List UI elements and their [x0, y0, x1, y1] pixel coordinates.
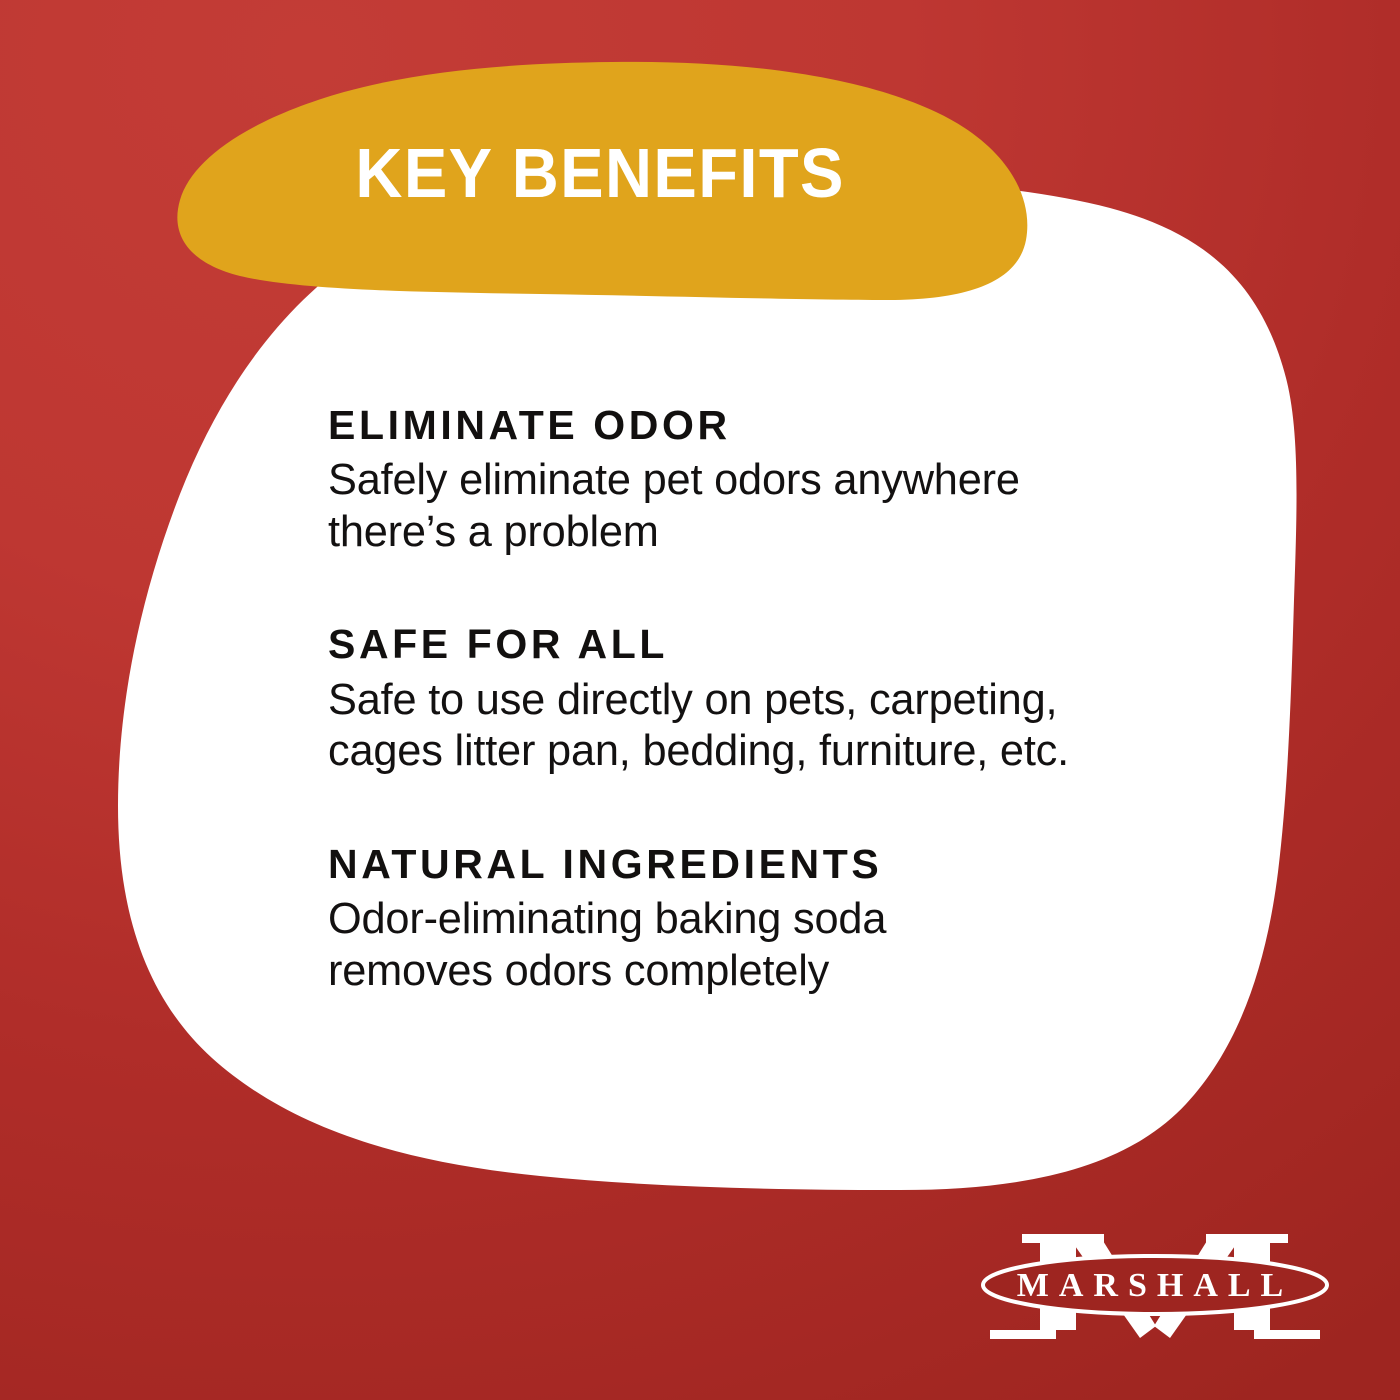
- banner-title: KEY BENEFITS: [355, 138, 844, 208]
- benefits-list: ELIMINATE ODOR Safely eliminate pet odor…: [328, 404, 1288, 996]
- benefit-body: Safely eliminate pet odors anywhere ther…: [328, 454, 1274, 557]
- benefit-body: Safe to use directly on pets, carpeting,…: [328, 674, 1274, 777]
- benefit-item-natural-ingredients: NATURAL INGREDIENTS Odor-eliminating bak…: [328, 843, 1288, 996]
- benefit-item-eliminate-odor: ELIMINATE ODOR Safely eliminate pet odor…: [328, 404, 1288, 557]
- benefit-body-line: there’s a problem: [328, 506, 1274, 557]
- benefit-body-line: Safe to use directly on pets, carpeting,: [328, 674, 1274, 725]
- benefit-body-line: cages litter pan, bedding, furniture, et…: [328, 725, 1274, 776]
- benefit-item-safe-for-all: SAFE FOR ALL Safe to use directly on pet…: [328, 623, 1288, 776]
- marshall-logo: MARSHALL: [980, 1218, 1330, 1358]
- benefit-heading: ELIMINATE ODOR: [328, 404, 1288, 447]
- benefit-body-line: Safely eliminate pet odors anywhere: [328, 454, 1274, 505]
- logo-wordmark: MARSHALL: [1017, 1267, 1293, 1304]
- benefit-body-line: removes odors completely: [328, 945, 1274, 996]
- benefit-heading: NATURAL INGREDIENTS: [328, 843, 1288, 886]
- benefit-body: Odor-eliminating baking soda removes odo…: [328, 893, 1274, 996]
- banner-title-container: KEY BENEFITS: [200, 128, 1000, 218]
- key-benefits-poster: KEY BENEFITS ELIMINATE ODOR Safely elimi…: [0, 0, 1400, 1400]
- benefit-heading: SAFE FOR ALL: [328, 623, 1288, 666]
- benefit-body-line: Odor-eliminating baking soda: [328, 893, 1274, 944]
